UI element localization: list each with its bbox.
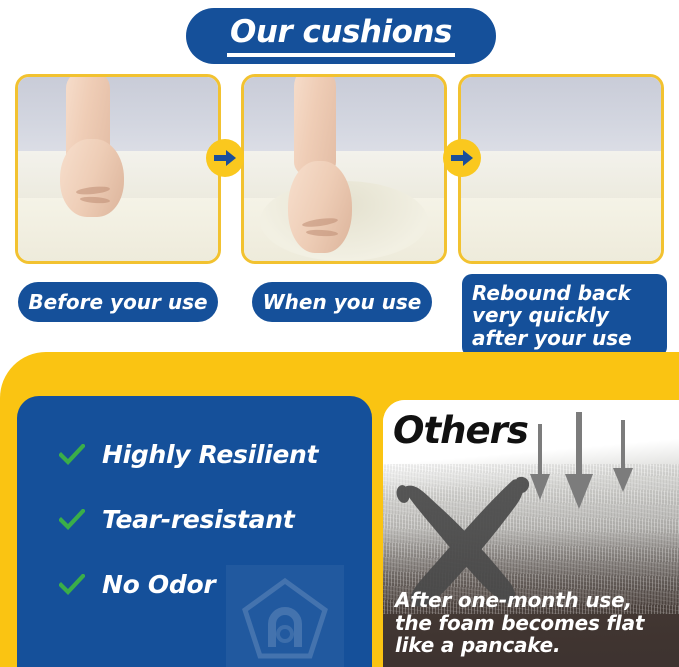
foam-front-face <box>461 198 661 261</box>
comparison-photo-during: A child's fist pressing down and sinking… <box>241 74 447 264</box>
page-title-pill: Our cushions <box>186 8 496 64</box>
check-icon <box>59 574 85 596</box>
arrow-right-icon <box>206 139 244 177</box>
pentagon-brand-logo-icon <box>226 565 344 667</box>
title-underline <box>227 53 455 57</box>
benefits-panel: Highly Resilient Tear-resistant No Odor <box>17 396 372 667</box>
benefit-label: No Odor <box>102 570 215 599</box>
fist-shape <box>288 161 352 253</box>
comparison-photo-after: The foam cushion surface flat and fully … <box>458 74 664 264</box>
benefit-item-highly-resilient: Highly Resilient <box>59 440 318 469</box>
benefit-label: Highly Resilient <box>102 440 318 469</box>
foam-scene-before <box>18 77 218 261</box>
background-wall <box>461 77 661 154</box>
product-infographic: Our cushions A child's fist resting ligh… <box>0 0 679 667</box>
foam-front-face <box>18 198 218 261</box>
others-title: Others <box>393 412 528 449</box>
check-icon <box>59 444 85 466</box>
check-icon <box>59 509 85 531</box>
foam-scene-after <box>461 77 661 261</box>
caption-during: When you use <box>252 282 432 322</box>
background-wall <box>244 77 444 154</box>
foam-top-surface <box>461 151 661 203</box>
benefit-label: Tear-resistant <box>102 505 294 534</box>
comparison-photo-before: A child's fist resting lightly on a crea… <box>15 74 221 264</box>
others-panel: Others After one-month use, the foam bec… <box>383 400 679 667</box>
caption-after: Rebound back very quickly after your use <box>462 274 667 357</box>
arrow-right-icon <box>443 139 481 177</box>
background-wall <box>18 77 218 154</box>
fist-shape <box>60 139 124 217</box>
others-caption: After one-month use, the foam becomes fl… <box>395 589 644 657</box>
forearm-shape <box>294 74 336 175</box>
caption-before: Before your use <box>18 282 218 322</box>
benefit-item-tear-resistant: Tear-resistant <box>59 505 294 534</box>
benefit-item-no-odor: No Odor <box>59 570 215 599</box>
foam-scene-during <box>244 77 444 261</box>
page-title: Our cushions <box>230 17 452 48</box>
